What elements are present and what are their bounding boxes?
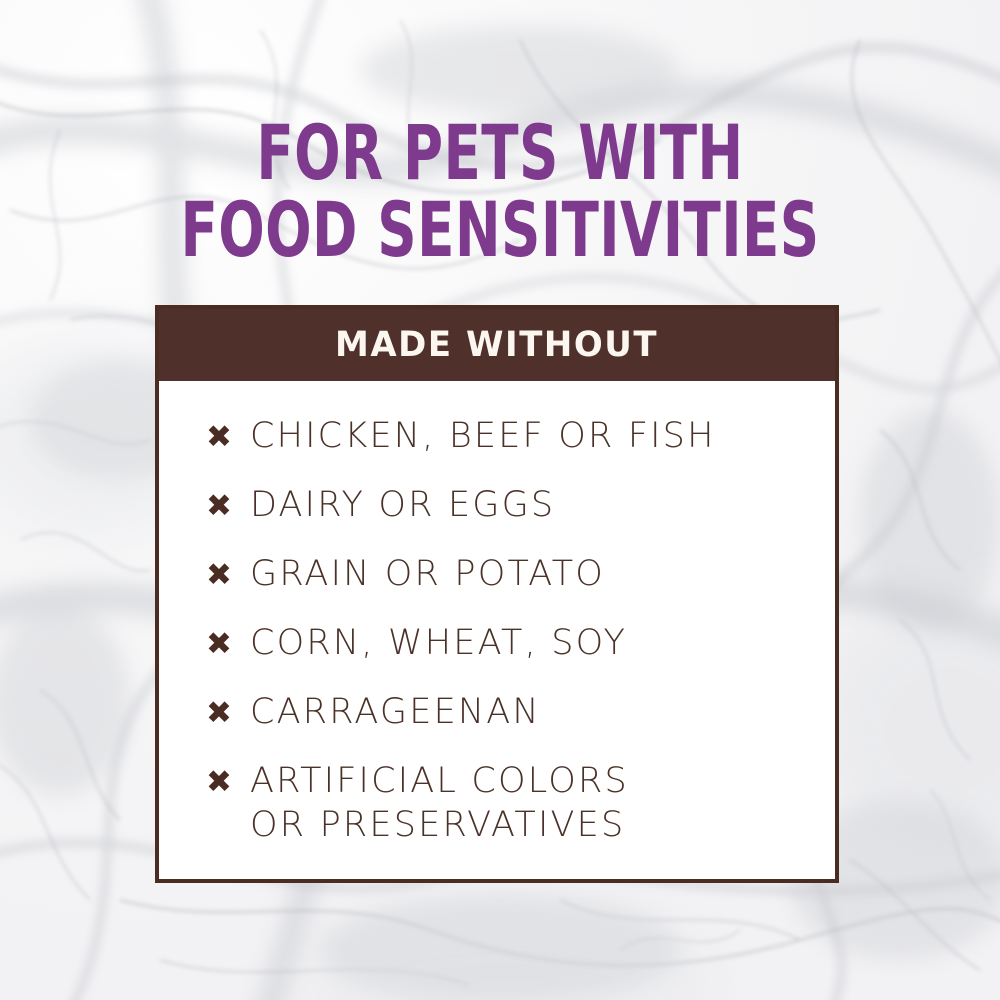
heavy-x-icon: ✖	[206, 622, 250, 666]
page-title-line-2: FOOD SENSITIVITIES	[100, 195, 900, 266]
card-header: MADE WITHOUT	[159, 309, 835, 381]
list-item-label: ARTIFICIAL COLORS OR PRESERVATIVES	[250, 759, 629, 847]
heavy-x-icon: ✖	[206, 691, 250, 735]
list-item-label: CORN, WHEAT, SOY	[250, 621, 627, 665]
product-claim-graphic: FOR PETS WITH FOOD SENSITIVITIES MADE WI…	[0, 0, 1000, 1000]
card-body: ✖ CHICKEN, BEEF OR FISH ✖ DAIRY OR EGGS …	[159, 381, 835, 879]
list-item: ✖ CORN, WHEAT, SOY	[206, 621, 835, 666]
card-header-title: MADE WITHOUT	[335, 325, 658, 365]
excluded-ingredients-list: ✖ CHICKEN, BEEF OR FISH ✖ DAIRY OR EGGS …	[206, 414, 835, 847]
list-item: ✖ ARTIFICIAL COLORS OR PRESERVATIVES	[206, 759, 835, 847]
heavy-x-icon: ✖	[206, 760, 250, 804]
page-title: FOR PETS WITH FOOD SENSITIVITIES	[0, 118, 1000, 265]
list-item: ✖ DAIRY OR EGGS	[206, 483, 835, 528]
page-title-line-1: FOR PETS WITH	[100, 118, 900, 189]
list-item: ✖ GRAIN OR POTATO	[206, 552, 835, 597]
made-without-card: MADE WITHOUT ✖ CHICKEN, BEEF OR FISH ✖ D…	[155, 305, 839, 883]
heavy-x-icon: ✖	[206, 553, 250, 597]
heavy-x-icon: ✖	[206, 415, 250, 459]
list-item-label: CHICKEN, BEEF OR FISH	[250, 414, 716, 458]
list-item-label: GRAIN OR POTATO	[250, 552, 605, 596]
list-item: ✖ CARRAGEENAN	[206, 690, 835, 735]
list-item-label: DAIRY OR EGGS	[250, 483, 555, 527]
list-item: ✖ CHICKEN, BEEF OR FISH	[206, 414, 835, 459]
list-item-label: CARRAGEENAN	[250, 690, 541, 734]
heavy-x-icon: ✖	[206, 484, 250, 528]
